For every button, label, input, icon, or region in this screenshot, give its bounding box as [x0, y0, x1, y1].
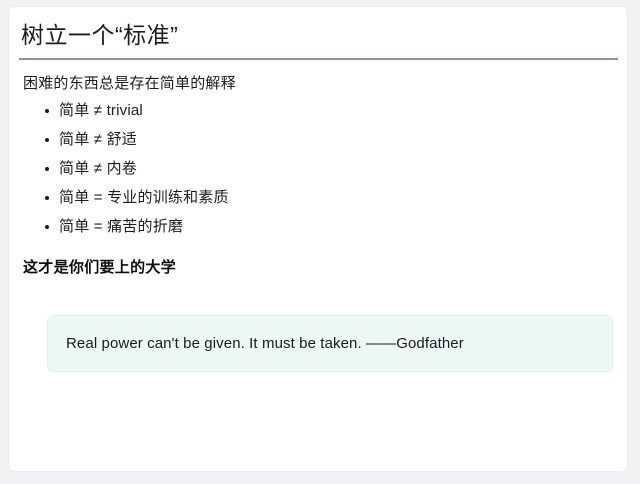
list-item: 简单 ≠ 内卷: [45, 159, 613, 179]
closing-statement: 这才是你们要上的大学: [23, 257, 613, 278]
list-item: 简单 ≠ 舒适: [45, 130, 613, 150]
list-item: 简单 = 痛苦的折磨: [45, 217, 613, 237]
lead-paragraph: 困难的东西总是存在简单的解释: [23, 73, 613, 96]
quote-text: Real power can't be given. It must be ta…: [66, 333, 594, 354]
bullet-list: 简单 ≠ trivial 简单 ≠ 舒适 简单 ≠ 内卷 简单 = 专业的训练和…: [23, 101, 613, 237]
quote-callout-box: Real power can't be given. It must be ta…: [47, 315, 613, 372]
list-item: 简单 = 专业的训练和素质: [45, 188, 613, 208]
slide-body: 困难的东西总是存在简单的解释 简单 ≠ trivial 简单 ≠ 舒适 简单 ≠…: [9, 60, 627, 372]
slide-card: 树立一个“标准” 困难的东西总是存在简单的解释 简单 ≠ trivial 简单 …: [8, 6, 628, 472]
bullet-dot-icon: [45, 109, 49, 113]
bullet-dot-icon: [45, 225, 49, 229]
page-title: 树立一个“标准”: [9, 7, 627, 58]
list-item: 简单 ≠ trivial: [45, 101, 613, 121]
list-item-label: 简单 ≠ trivial: [59, 102, 143, 119]
list-item-label: 简单 = 专业的训练和素质: [59, 189, 229, 206]
list-item-label: 简单 = 痛苦的折磨: [59, 218, 183, 235]
list-item-label: 简单 ≠ 舒适: [59, 131, 137, 148]
bullet-dot-icon: [45, 138, 49, 142]
bullet-dot-icon: [45, 167, 49, 171]
list-item-label: 简单 ≠ 内卷: [59, 160, 137, 177]
bullet-dot-icon: [45, 196, 49, 200]
